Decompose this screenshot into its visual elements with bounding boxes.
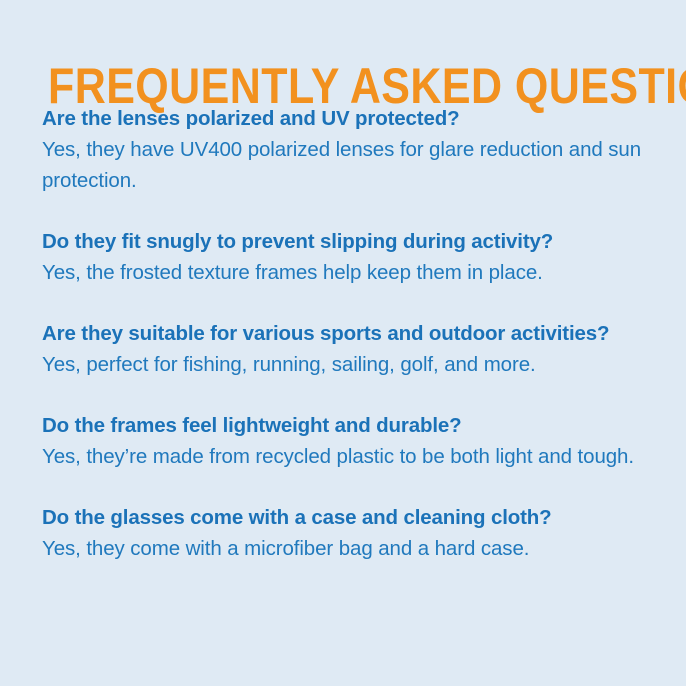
faq-item: Do they fit snugly to prevent slipping d… bbox=[42, 226, 646, 288]
faq-answer: Yes, they’re made from recycled plastic … bbox=[42, 441, 646, 472]
faq-item: Do the frames feel lightweight and durab… bbox=[42, 410, 646, 472]
faq-question: Do the frames feel lightweight and durab… bbox=[42, 410, 646, 441]
faq-question: Do they fit snugly to prevent slipping d… bbox=[42, 226, 646, 257]
faq-answer: Yes, they come with a microfiber bag and… bbox=[42, 533, 646, 564]
faq-question: Are the lenses polarized and UV protecte… bbox=[42, 103, 646, 134]
faq-card: FREQUENTLY ASKED QUESTIONS Are the lense… bbox=[0, 0, 686, 686]
faq-question: Do the glasses come with a case and clea… bbox=[42, 502, 646, 533]
faq-item: Do the glasses come with a case and clea… bbox=[42, 502, 646, 564]
faq-list: Are the lenses polarized and UV protecte… bbox=[42, 103, 646, 564]
faq-answer: Yes, they have UV400 polarized lenses fo… bbox=[42, 134, 646, 196]
faq-item: Are the lenses polarized and UV protecte… bbox=[42, 103, 646, 196]
faq-question: Are they suitable for various sports and… bbox=[42, 318, 646, 349]
faq-item: Are they suitable for various sports and… bbox=[42, 318, 646, 380]
faq-answer: Yes, perfect for fishing, running, saili… bbox=[42, 349, 646, 380]
faq-answer: Yes, the frosted texture frames help kee… bbox=[42, 257, 646, 288]
